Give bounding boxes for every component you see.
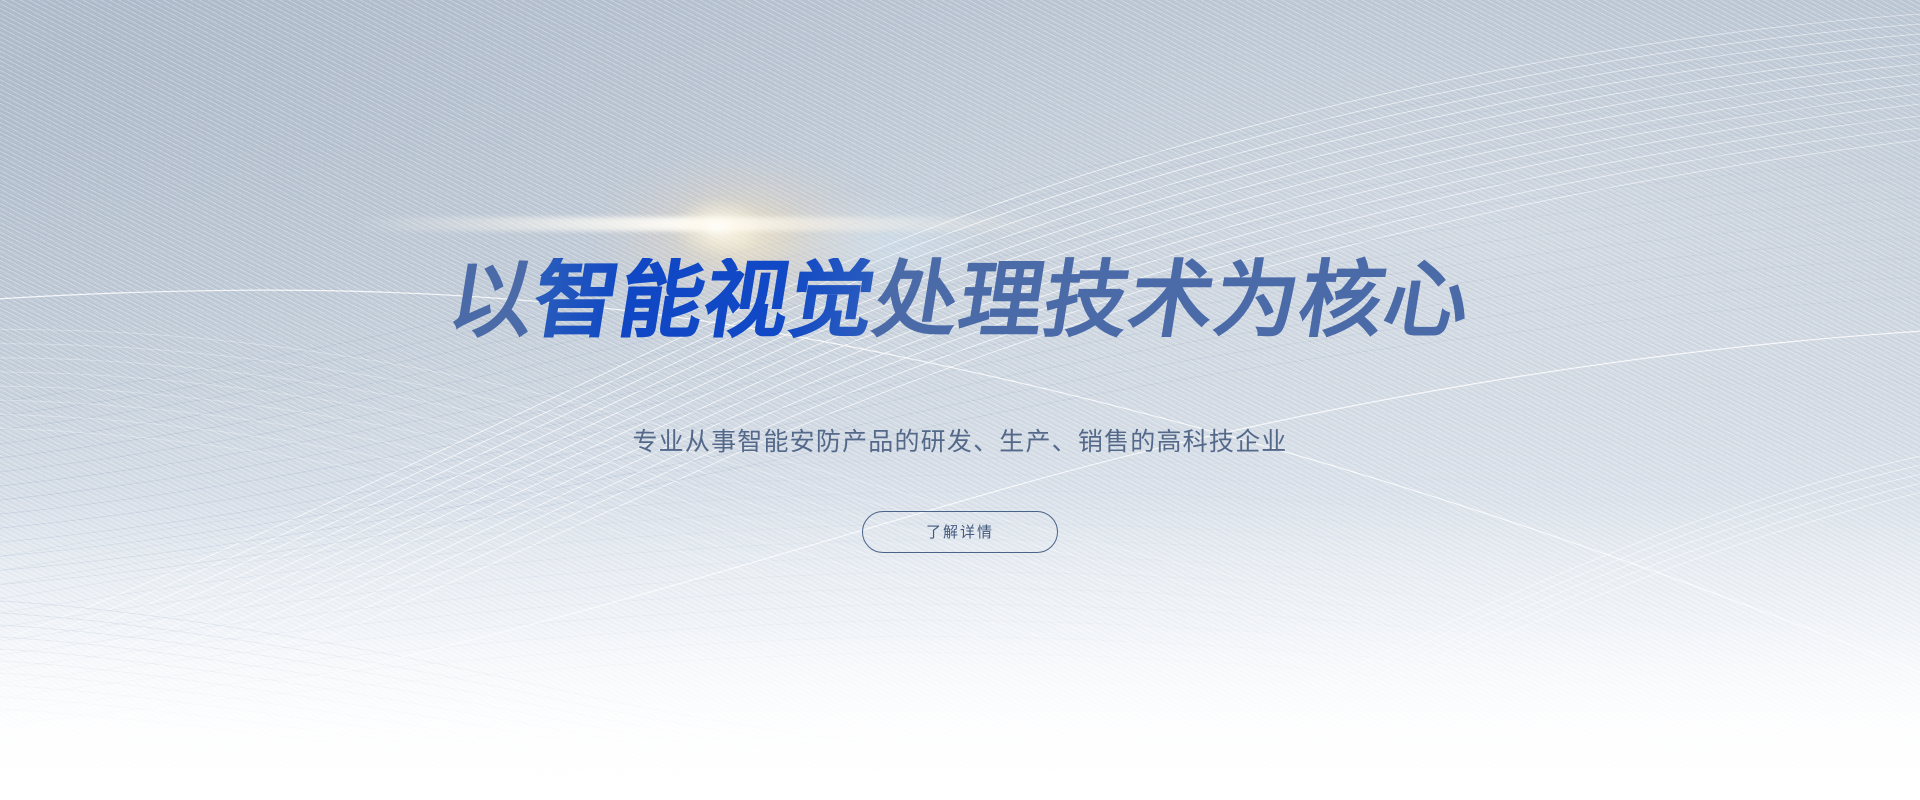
hero-content: 以智能视觉处理技术为核心 专业从事智能安防产品的研发、生产、销售的高科技企业 了… [0, 0, 1920, 800]
headline-segment-lead: 以 [443, 258, 541, 342]
hero-cta-wrapper: 了解详情 [0, 511, 1920, 553]
hero-banner: 以智能视觉处理技术为核心 专业从事智能安防产品的研发、生产、销售的高科技企业 了… [0, 0, 1920, 800]
headline-segment-tail: 处理技术为核心 [868, 258, 1476, 342]
headline-segment-accent: 智能视觉 [528, 258, 881, 342]
learn-more-button[interactable]: 了解详情 [862, 511, 1058, 553]
hero-headline: 以智能视觉处理技术为核心 [0, 258, 1920, 342]
hero-subtitle: 专业从事智能安防产品的研发、生产、销售的高科技企业 [0, 429, 1920, 454]
